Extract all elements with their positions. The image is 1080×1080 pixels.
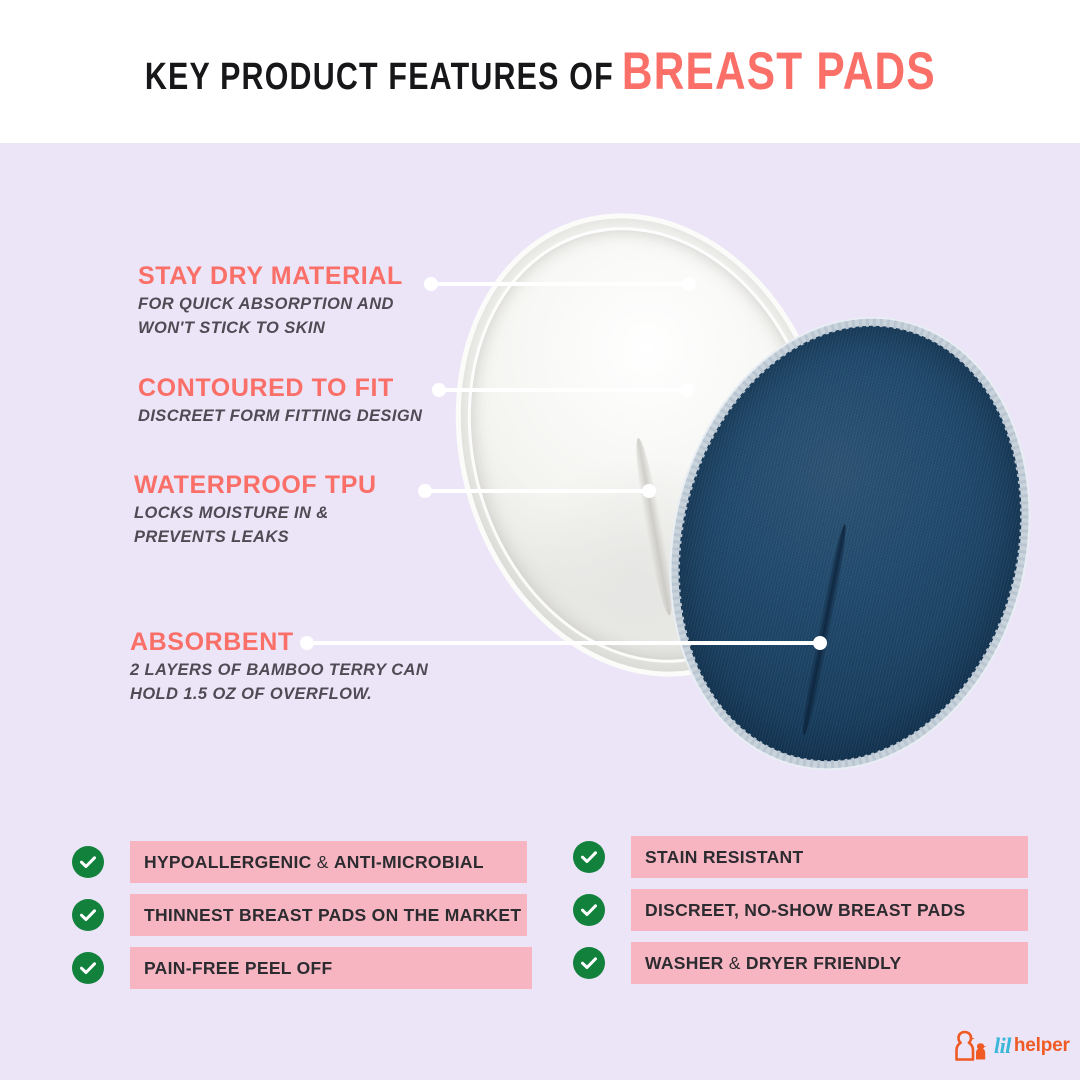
logo-word-lil: lil	[994, 1033, 1011, 1059]
lil-helper-bird-icon	[952, 1029, 992, 1063]
checklist-label: HYPOALLERGENIC & ANTI-MICROBIAL	[144, 852, 484, 873]
check-circle-icon	[72, 899, 104, 931]
connector-stroke	[425, 489, 649, 493]
checklist-label: DISCREET, NO-SHOW BREAST PADS	[645, 900, 965, 921]
connector-dot-end	[682, 277, 696, 291]
check-circle-icon	[573, 947, 605, 979]
checklist-bar: THINNEST BREAST PADS ON THE MARKET	[130, 894, 527, 936]
page-title-accent: BREAST PADS	[622, 42, 936, 101]
feature-title: WATERPROOF TPU	[134, 472, 377, 498]
checklist-bar: PAIN-FREE PEEL OFF	[130, 947, 532, 989]
connector-dot-start	[418, 484, 432, 498]
checklist-item-thinnest-pads[interactable]: THINNEST BREAST PADS ON THE MARKET	[72, 894, 527, 936]
page-title-plain: KEY PRODUCT FEATURES OF	[145, 56, 614, 98]
connector-stroke	[431, 282, 689, 286]
feature-waterproof-tpu: WATERPROOF TPU LOCKS MOISTURE IN & PREVE…	[134, 472, 377, 550]
connector-line-absorbent	[300, 636, 827, 650]
checklist-bar: DISCREET, NO-SHOW BREAST PADS	[631, 889, 1028, 931]
connector-dot-start	[432, 383, 446, 397]
connector-stroke	[439, 388, 687, 392]
connector-dot-end	[642, 484, 656, 498]
check-circle-icon	[72, 952, 104, 984]
connector-line-waterproof	[418, 484, 656, 498]
feature-description: LOCKS MOISTURE IN & PREVENTS LEAKS	[134, 502, 377, 550]
page-title: KEY PRODUCT FEATURES OFBREAST PADS	[145, 41, 936, 102]
checklist-bar: WASHER & DRYER FRIENDLY	[631, 942, 1028, 984]
feature-description: FOR QUICK ABSORPTION AND WON'T STICK TO …	[138, 293, 403, 341]
checklist-item-washer-dryer-friendly[interactable]: WASHER & DRYER FRIENDLY	[573, 942, 1028, 984]
connector-line-stay-dry	[424, 277, 696, 291]
brand-logo[interactable]: lil helper	[952, 1026, 1070, 1066]
checklist-label: WASHER & DRYER FRIENDLY	[645, 953, 902, 974]
checklist-item-stain-resistant[interactable]: STAIN RESISTANT	[573, 836, 1028, 878]
connector-dot-end	[680, 383, 694, 397]
checklist-item-discreet-no-show[interactable]: DISCREET, NO-SHOW BREAST PADS	[573, 889, 1028, 931]
checklist-item-pain-free-peel-off[interactable]: PAIN-FREE PEEL OFF	[72, 947, 532, 989]
checklist-bar: HYPOALLERGENIC & ANTI-MICROBIAL	[130, 841, 527, 883]
product-photo	[430, 198, 1040, 708]
checklist-label: STAIN RESISTANT	[645, 847, 803, 868]
checklist-bar: STAIN RESISTANT	[631, 836, 1028, 878]
connector-dot-end	[813, 636, 827, 650]
checklist-label: PAIN-FREE PEEL OFF	[144, 958, 333, 979]
header-band: KEY PRODUCT FEATURES OFBREAST PADS	[0, 0, 1080, 143]
connector-dot-start	[424, 277, 438, 291]
checklist-label: THINNEST BREAST PADS ON THE MARKET	[144, 905, 521, 926]
connector-stroke	[307, 641, 820, 645]
feature-title: CONTOURED TO FIT	[138, 375, 422, 401]
check-circle-icon	[573, 894, 605, 926]
connector-line-contoured	[432, 383, 694, 397]
feature-stay-dry-material: STAY DRY MATERIAL FOR QUICK ABSORPTION A…	[138, 263, 403, 341]
check-circle-icon	[573, 841, 605, 873]
logo-word-helper: helper	[1014, 1035, 1070, 1057]
checklist-item-hypoallergenic[interactable]: HYPOALLERGENIC & ANTI-MICROBIAL	[72, 841, 527, 883]
feature-title: STAY DRY MATERIAL	[138, 263, 403, 289]
feature-description: 2 LAYERS OF BAMBOO TERRY CAN HOLD 1.5 OZ…	[130, 659, 428, 707]
connector-dot-start	[300, 636, 314, 650]
check-circle-icon	[72, 846, 104, 878]
feature-description: DISCREET FORM FITTING DESIGN	[138, 405, 422, 429]
feature-contoured-to-fit: CONTOURED TO FIT DISCREET FORM FITTING D…	[138, 375, 422, 429]
